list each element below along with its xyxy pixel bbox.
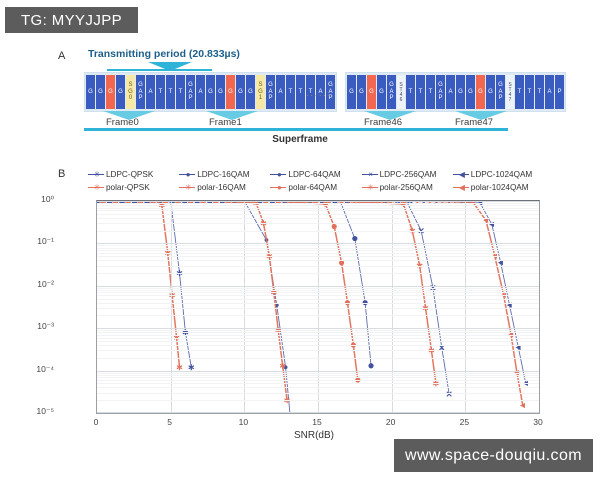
minor-gridline (97, 203, 539, 204)
frame-right-cell-t: T (426, 75, 435, 109)
minor-gridline (97, 350, 539, 351)
frame-left-cell-g: G (206, 75, 215, 109)
panel-b-label: B (58, 168, 65, 180)
legend-marker-icon: ✳ (88, 183, 104, 193)
legend-label: LDPC-1024QAM (471, 170, 532, 179)
legend-item-polar-1024qam[interactable]: ◀polar-1024QAM (453, 183, 544, 193)
legend-label: LDPC-256QAM (380, 170, 437, 179)
frame-right-cell-g: G (456, 75, 465, 109)
legend-item-ldpc-256qam[interactable]: ×LDPC-256QAM (362, 170, 453, 180)
legend-marker-icon: ● (270, 183, 286, 193)
frame-strip-right: GGGGGAPST46TTTGAPAGGGGGAPST47TTTAP (345, 72, 566, 112)
frame-label-1: Frame1 (209, 117, 242, 128)
cell-char: 0 (129, 95, 132, 102)
minor-gridline (97, 335, 539, 336)
x-tick-label: 25 (460, 417, 469, 427)
panel-a-frame-structure: A Transmitting period (20.833µs) GGGGSG0… (0, 0, 600, 158)
legend-item-ldpc-1024qam[interactable]: ◀LDPC-1024QAM (453, 170, 544, 180)
minor-gridline (97, 256, 539, 257)
gridline-horizontal (97, 328, 539, 329)
frame-left-cell-sg0: SG0 (126, 75, 135, 109)
frame-right-cell-a: A (545, 75, 554, 109)
cell-text: ST46 (398, 82, 404, 102)
frame-right-cell-st46: ST46 (397, 75, 405, 109)
minor-gridline (97, 375, 539, 376)
data-point-marker (332, 224, 337, 229)
legend-item-polar-256qam[interactable]: ✳polar-256QAM (362, 183, 453, 193)
x-tick-label: 10 (239, 417, 248, 427)
frame-left-cell-g: G (116, 75, 125, 109)
gridline-horizontal (97, 201, 539, 202)
x-tick-label: 0 (94, 417, 99, 427)
minor-gridline (97, 205, 539, 206)
x-tick-label: 20 (386, 417, 395, 427)
y-tick-label: 10⁻² (14, 279, 54, 290)
minor-gridline (97, 266, 539, 267)
cell-char: P (438, 95, 442, 102)
minor-gridline (97, 393, 539, 394)
frame-right-cell-gap: GAP (496, 75, 505, 109)
minor-gridline (97, 295, 539, 296)
panel-b-bler-chart: B ✳LDPC-QPSK●LDPC-16QAM●LDPC-64QAM×LDPC-… (0, 158, 600, 458)
legend-item-polar-16qam[interactable]: ✳polar-16QAM (179, 183, 270, 193)
chart-plot-area (96, 200, 540, 414)
minor-gridline (97, 338, 539, 339)
gridline-horizontal (97, 243, 539, 244)
frame-right-cell-gap: GAP (387, 75, 396, 109)
frame-left-cell-sg1: SG1 (256, 75, 265, 109)
legend-item-ldpc-16qam[interactable]: ●LDPC-16QAM (179, 170, 270, 180)
legend-marker-icon: ✳ (362, 183, 378, 193)
transmitting-period-bar (107, 69, 212, 71)
legend-marker-icon: ✳ (179, 183, 195, 193)
frame-left-cell-g: G (216, 75, 225, 109)
cell-char: P (138, 95, 142, 102)
legend-item-ldpc-qpsk[interactable]: ✳LDPC-QPSK (88, 170, 179, 180)
minor-gridline (97, 373, 539, 374)
minor-gridline (97, 273, 539, 274)
legend-item-ldpc-64qam[interactable]: ●LDPC-64QAM (270, 170, 361, 180)
minor-gridline (97, 288, 539, 289)
minor-gridline (97, 210, 539, 211)
frame-right-cell-t: T (416, 75, 425, 109)
frame-right-cell-t: T (406, 75, 415, 109)
y-tick-label: 10⁻¹ (14, 236, 54, 247)
cell-char: P (268, 95, 272, 102)
legend-label: polar-16QAM (197, 183, 246, 192)
frame-left-cell-g: G (236, 75, 245, 109)
legend-marker-icon: ◀ (453, 183, 469, 193)
y-axis-title: BLER (0, 267, 3, 293)
minor-gridline (97, 341, 539, 342)
frame-right-cell-g: G (466, 75, 475, 109)
data-point-marker (352, 236, 357, 241)
legend-marker-icon: ● (270, 170, 286, 180)
minor-gridline (97, 400, 539, 401)
frame-right-cell-g: G (347, 75, 356, 109)
legend-label: polar-1024QAM (471, 183, 529, 192)
frame-left-cell-t: T (296, 75, 305, 109)
transmitting-period-title: Transmitting period (20.833µs) (88, 48, 240, 60)
gridline-horizontal (97, 371, 539, 372)
gridline-horizontal (97, 286, 539, 287)
minor-gridline (97, 245, 539, 246)
x-axis-title-text: SNR(dB) (294, 430, 334, 441)
frame-left-cell-g: G (226, 75, 235, 109)
frame-left-cell-t: T (176, 75, 185, 109)
minor-gridline (97, 345, 539, 346)
cell-char: 1 (259, 95, 262, 102)
minor-gridline (97, 218, 539, 219)
legend-label: polar-QPSK (106, 183, 150, 192)
minor-gridline (97, 208, 539, 209)
legend-marker-icon: ◀ (453, 170, 469, 180)
cell-char: P (498, 95, 502, 102)
frame-right-cell-t: T (525, 75, 534, 109)
y-tick-label: 10⁻⁵ (14, 406, 54, 417)
frame-label-0: Frame0 (106, 117, 139, 128)
frame-left-cell-g: G (246, 75, 255, 109)
frames-ellipsis: ...... (306, 88, 332, 99)
minor-gridline (97, 332, 539, 333)
frame-label-47: Frame47 (455, 117, 493, 128)
frame-right-cell-gap: GAP (436, 75, 445, 109)
frame-left-cell-gap: GAP (186, 75, 195, 109)
minor-gridline (97, 377, 539, 378)
x-tick-label: 30 (533, 417, 542, 427)
legend-label: polar-64QAM (288, 183, 337, 192)
data-point-marker (189, 364, 194, 370)
frame-left-cell-g: G (86, 75, 95, 109)
minor-gridline (97, 290, 539, 291)
x-tick-label: 15 (312, 417, 321, 427)
minor-gridline (97, 253, 539, 254)
y-tick-label: 10⁻³ (14, 321, 54, 332)
frame-left-cell-a: A (276, 75, 285, 109)
cell-char: P (389, 95, 393, 102)
frame-right-cell-st47: ST47 (506, 75, 514, 109)
frame-left-cell-a: A (196, 75, 205, 109)
frame-left-cell-t: T (166, 75, 175, 109)
minor-gridline (97, 231, 539, 232)
minor-gridline (97, 292, 539, 293)
minor-gridline (97, 303, 539, 304)
frame-left-cell-gap: GAP (266, 75, 275, 109)
frame-left-cell-g: G (96, 75, 105, 109)
gridline-horizontal (97, 412, 539, 413)
y-tick-label: 10⁻⁴ (14, 364, 54, 375)
cell-text: ST47 (507, 82, 513, 102)
minor-gridline (97, 308, 539, 309)
legend-label: LDPC-16QAM (197, 170, 249, 179)
frame-right-cell-g: G (377, 75, 386, 109)
superframe-bar (84, 128, 508, 131)
minor-gridline (97, 299, 539, 300)
minor-gridline (97, 214, 539, 215)
cell-char: P (188, 95, 192, 102)
frame-right-cell-p: P (555, 75, 564, 109)
minor-gridline (97, 380, 539, 381)
frame-left-cell-g: G (106, 75, 115, 109)
frame-left-cell-t: T (286, 75, 295, 109)
x-axis-title: SNR(dB) (0, 430, 600, 441)
legend-item-polar-qpsk[interactable]: ✳polar-QPSK (88, 183, 179, 193)
legend-label: LDPC-64QAM (288, 170, 340, 179)
minor-gridline (97, 330, 539, 331)
minor-gridline (97, 383, 539, 384)
data-point-marker (368, 363, 373, 368)
minor-gridline (97, 250, 539, 251)
y-tick-label: 10⁰ (14, 194, 54, 205)
legend-marker-icon: ✳ (88, 170, 104, 180)
frame-label-46: Frame46 (364, 117, 402, 128)
minor-gridline (97, 248, 539, 249)
x-tick-label: 5 (167, 417, 172, 427)
frame-right-cell-a: A (446, 75, 455, 109)
series-line (97, 201, 180, 367)
data-point-marker (177, 364, 182, 370)
frame-strip-left: GGGGSG0GAPATTTGAPAGGGGGSG1GAPATTTAGAP (84, 72, 337, 112)
frame-left-cell-a: A (146, 75, 155, 109)
legend-marker-icon: ● (179, 170, 195, 180)
frame-right-cell-g: G (367, 75, 376, 109)
minor-gridline (97, 260, 539, 261)
chart-legend: ✳LDPC-QPSK●LDPC-16QAM●LDPC-64QAM×LDPC-25… (88, 168, 544, 194)
panel-a-label: A (58, 50, 65, 62)
superframe-label: Superframe (0, 134, 600, 145)
legend-label: polar-256QAM (380, 183, 433, 192)
frame-left-cell-gap: GAP (136, 75, 145, 109)
frame-right-cell-g: G (476, 75, 485, 109)
legend-marker-icon: × (362, 170, 378, 180)
frame-right-cell-g: G (486, 75, 495, 109)
frame-right-cell-t: T (515, 75, 524, 109)
minor-gridline (97, 223, 539, 224)
legend-item-polar-64qam[interactable]: ●polar-64QAM (270, 183, 361, 193)
minor-gridline (97, 315, 539, 316)
frame-right-cell-g: G (357, 75, 366, 109)
legend-label: LDPC-QPSK (106, 170, 153, 179)
minor-gridline (97, 358, 539, 359)
frame-right-cell-t: T (535, 75, 544, 109)
frame-left-cell-t: T (156, 75, 165, 109)
minor-gridline (97, 387, 539, 388)
